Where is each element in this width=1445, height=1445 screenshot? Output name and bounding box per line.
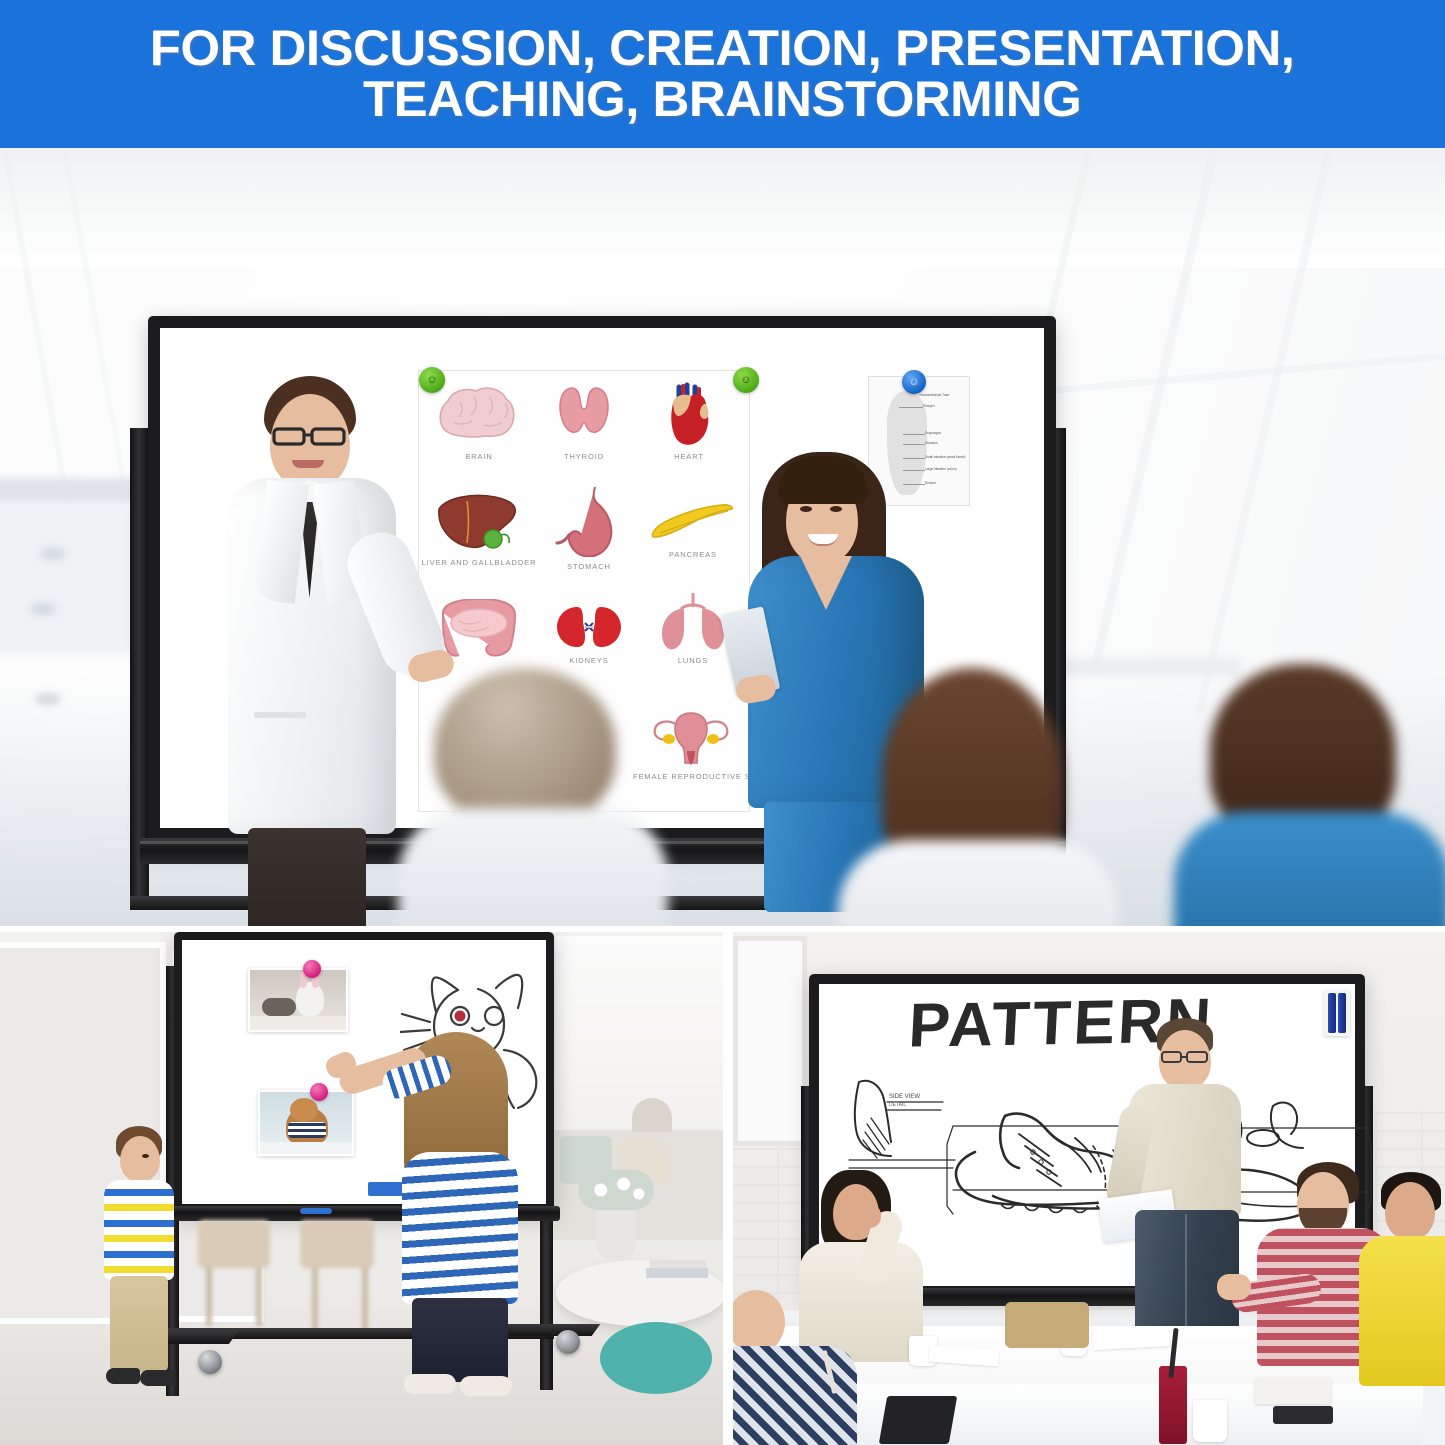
organ-label: KIDNEYS xyxy=(537,656,641,665)
organ-label: HEART xyxy=(637,452,741,461)
liver-gallbladder-icon xyxy=(433,491,525,553)
person-girl xyxy=(370,1002,530,1398)
attendee-hand xyxy=(853,1204,881,1228)
kidneys-icon xyxy=(555,603,623,651)
doctor-trousers xyxy=(248,828,366,926)
doctor-glasses-icon xyxy=(272,426,350,446)
coffee-cup[interactable] xyxy=(1193,1400,1227,1442)
gi-label: Pharynx xyxy=(923,404,935,408)
chair-leg xyxy=(206,1266,212,1326)
gi-leader-line xyxy=(903,434,925,435)
panel-child-drawing xyxy=(0,930,723,1445)
lungs-icon xyxy=(658,593,728,651)
person-doctor xyxy=(212,360,442,920)
attendee-patterned-blouse xyxy=(733,1290,867,1445)
caster-wheel xyxy=(556,1330,580,1354)
photo-card-rabbit[interactable] xyxy=(248,968,348,1032)
counter-knob-icon xyxy=(40,548,66,560)
marker-holder[interactable] xyxy=(1324,990,1350,1036)
organ-label: FEMALE REPRODUCTIVE SYSTEM xyxy=(633,772,749,781)
photo-floor xyxy=(260,1142,352,1154)
attendee-yellow-shirt xyxy=(1357,1172,1445,1402)
heart-icon xyxy=(663,381,715,447)
organ-cell-kidneys: KIDNEYS xyxy=(537,603,641,665)
thyroid-icon xyxy=(554,385,614,447)
toy-mouse-icon xyxy=(262,998,296,1016)
boy-head xyxy=(120,1136,160,1182)
smartphone[interactable] xyxy=(1273,1406,1333,1424)
smiley-magnet-icon[interactable]: ☺ xyxy=(733,367,759,393)
pancreas-icon xyxy=(650,503,736,545)
doctor-pocket xyxy=(254,712,306,718)
organ-label: STOMACH xyxy=(537,562,641,571)
attendee-hand xyxy=(1217,1274,1251,1300)
audience-shirt xyxy=(838,840,1118,926)
smiley-magnet-icon[interactable]: ☺ xyxy=(902,370,926,394)
headline-banner: FOR DISCUSSION, CREATION, PRESENTATION, … xyxy=(0,0,1445,148)
side-window xyxy=(733,936,807,1146)
marker-icon[interactable] xyxy=(1338,993,1346,1033)
round-magnet-icon[interactable] xyxy=(310,1083,328,1101)
meeting-chair xyxy=(1005,1302,1089,1348)
female-reproductive-icon xyxy=(649,707,733,767)
ceiling-light xyxy=(0,148,1445,268)
nurse-eye-right xyxy=(830,506,842,512)
caster-wheel xyxy=(198,1350,222,1374)
counter-knob-icon xyxy=(30,603,56,615)
poodle-shirt-icon xyxy=(288,1122,326,1138)
organ-label: THYROID xyxy=(532,452,636,461)
organ-cell-thyroid: THYROID xyxy=(532,385,636,461)
girl-striped-shirt xyxy=(402,1152,518,1304)
svg-text:SIDE VIEW: SIDE VIEW xyxy=(889,1094,920,1100)
chair-leg xyxy=(362,1266,368,1330)
marker-icon[interactable] xyxy=(1328,993,1336,1033)
attendee-yellow-top xyxy=(1359,1236,1445,1386)
svg-text:DETAIL: DETAIL xyxy=(889,1102,906,1108)
poodle-head-icon xyxy=(290,1098,318,1122)
audience-member-3 xyxy=(1188,664,1438,926)
dining-chair xyxy=(198,1220,270,1268)
organ-cell-heart: HEART xyxy=(637,381,741,461)
headline-line-2: TEACHING, BRAINSTORMING xyxy=(363,74,1081,125)
audience-shirt xyxy=(398,808,668,926)
panel-medical-lecture: BRAIN THYROID HEART xyxy=(0,148,1445,926)
organ-label: PANCREAS xyxy=(641,550,745,559)
chair-leg xyxy=(256,1266,262,1326)
audience-member-1 xyxy=(418,668,648,926)
document-sheet[interactable] xyxy=(1093,1326,1170,1350)
smiley-glyph: ☺ xyxy=(733,367,759,393)
boy-shoe xyxy=(140,1370,174,1386)
audience-scrub xyxy=(1174,812,1445,926)
round-magnet-icon[interactable] xyxy=(303,960,321,978)
marker-on-tray[interactable] xyxy=(300,1208,332,1214)
attendee-head xyxy=(733,1290,785,1354)
chair-leg xyxy=(312,1266,318,1330)
laptop[interactable] xyxy=(879,1396,957,1444)
boy-striped-shirt xyxy=(104,1180,174,1280)
notebook[interactable] xyxy=(1255,1378,1331,1404)
brain-icon xyxy=(436,385,522,447)
panel-design-meeting: PATTERN SIDE VIEW DETAIL xyxy=(733,930,1445,1445)
organ-cell-female-reproductive: FEMALE REPRODUCTIVE SYSTEM xyxy=(633,707,749,781)
table-lamp-icon xyxy=(632,1098,672,1132)
girl-shoe xyxy=(460,1376,512,1396)
nurse-eye-left xyxy=(800,506,812,512)
product-feature-image: FOR DISCUSSION, CREATION, PRESENTATION, … xyxy=(0,0,1445,1445)
doctor-mouth xyxy=(292,460,324,468)
attendee-head xyxy=(1385,1182,1435,1240)
boy-eye xyxy=(142,1154,149,1158)
jeans-seam xyxy=(1185,1214,1187,1344)
person-boy xyxy=(98,1126,178,1394)
boy-trousers xyxy=(110,1276,168,1372)
stomach-icon xyxy=(555,485,623,557)
presenter-glasses-icon xyxy=(1161,1050,1209,1062)
whiteboard-stand-post-left xyxy=(130,428,149,898)
audience-hair xyxy=(434,668,616,826)
organ-label: BRAIN xyxy=(427,452,531,461)
gi-label: Esophagus xyxy=(925,431,941,435)
audience-member-2 xyxy=(856,668,1096,926)
water-bottle[interactable] xyxy=(1159,1366,1187,1444)
panel-divider-vertical xyxy=(723,926,733,1445)
girl-trousers xyxy=(412,1298,508,1382)
flowers-icon xyxy=(578,1170,654,1210)
gi-leader-line xyxy=(899,407,923,408)
smiley-glyph: ☺ xyxy=(902,370,926,394)
headline-line-1: FOR DISCUSSION, CREATION, PRESENTATION, xyxy=(150,23,1295,74)
dining-chair xyxy=(300,1220,374,1268)
organ-cell-pancreas: PANCREAS xyxy=(641,503,745,559)
attendee-blouse xyxy=(733,1346,857,1445)
photo-floor xyxy=(250,1016,346,1030)
books-stack xyxy=(646,1268,708,1278)
books-stack xyxy=(650,1260,706,1268)
boy-shoe xyxy=(106,1368,140,1384)
organ-cell-stomach: STOMACH xyxy=(537,485,641,571)
organ-cell-brain: BRAIN xyxy=(427,385,531,461)
teal-pouf xyxy=(600,1322,712,1394)
photo-card-poodle[interactable] xyxy=(258,1090,354,1156)
girl-shoe xyxy=(404,1374,456,1394)
